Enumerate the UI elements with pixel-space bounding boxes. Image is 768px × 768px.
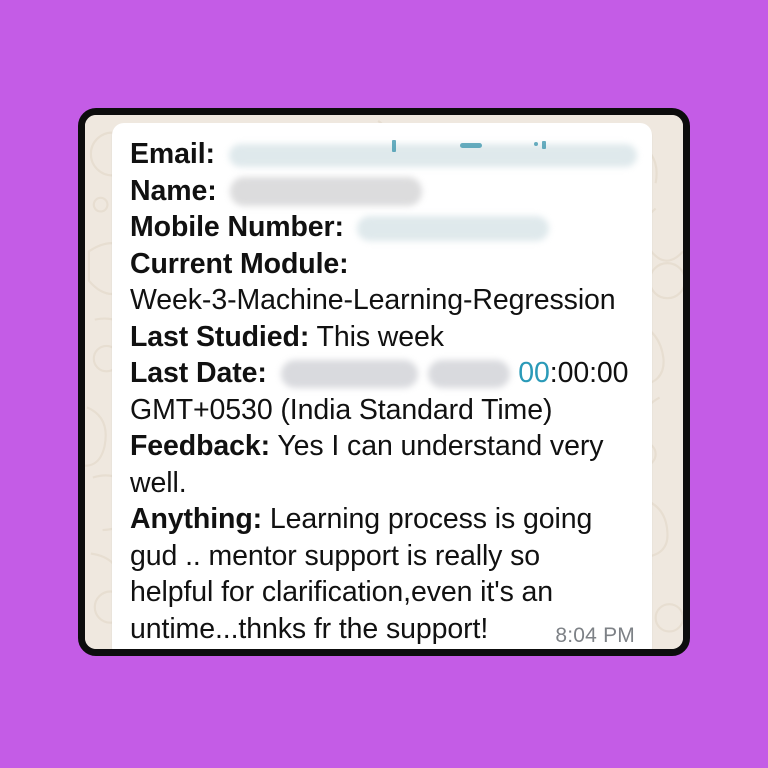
- field-label-last-date: Last Date:: [130, 357, 267, 389]
- value-anything-line-2: gud .. mentor support is really so: [130, 540, 540, 572]
- redaction-last-date-part2: [428, 360, 510, 388]
- redaction-last-date-part1: [281, 360, 418, 388]
- value-anything-line-4: untime...thnks fr the support!: [130, 613, 488, 645]
- value-anything-line-3: helpful for clarification,even it's an: [130, 576, 553, 608]
- field-anything-cont-2: helpful for clarification,even it's an: [130, 574, 644, 611]
- field-feedback: Feedback: Yes I can understand very: [130, 428, 644, 465]
- redaction-mobile-value: [357, 216, 549, 241]
- field-name: Name:: [130, 173, 644, 210]
- field-current-module-label: Current Module:: [130, 246, 644, 283]
- screenshot-canvas: Email: Name: Mobile Number: Current: [0, 0, 768, 768]
- redaction-name-value: [230, 177, 422, 206]
- message-body: Email: Name: Mobile Number: Current: [130, 136, 644, 647]
- redaction-email-value: [229, 144, 637, 167]
- redaction-speck: [460, 143, 482, 148]
- redaction-speck: [542, 141, 546, 149]
- field-feedback-cont: well.: [130, 465, 644, 502]
- message-timestamp: 8:04 PM: [555, 624, 635, 648]
- value-time-rest: :00:00: [550, 357, 629, 389]
- field-label-feedback: Feedback:: [130, 430, 270, 462]
- field-label-last-studied: Last Studied:: [130, 321, 309, 353]
- redaction-speck: [392, 140, 396, 152]
- value-timezone: GMT+0530 (India Standard Time): [130, 394, 552, 426]
- value-last-studied: This week: [317, 321, 444, 353]
- field-last-date: Last Date: 00:00:00: [130, 355, 644, 392]
- value-feedback-line-2: well.: [130, 467, 187, 499]
- field-email: Email:: [130, 136, 644, 173]
- value-current-module: Week-3-Machine-Learning-Regression: [130, 284, 616, 316]
- field-anything: Anything: Learning process is going: [130, 501, 644, 538]
- message-bubble[interactable]: Email: Name: Mobile Number: Current: [112, 123, 652, 656]
- screenshot-frame: Email: Name: Mobile Number: Current: [78, 108, 690, 656]
- field-mobile-number: Mobile Number:: [130, 209, 644, 246]
- field-timezone: GMT+0530 (India Standard Time): [130, 392, 644, 429]
- field-label-name: Name:: [130, 175, 217, 207]
- value-time-hours: 00: [518, 357, 550, 389]
- field-label-current-module: Current Module:: [130, 248, 349, 280]
- redaction-speck: [534, 142, 538, 146]
- field-label-mobile-number: Mobile Number:: [130, 211, 344, 243]
- value-feedback-line-1: Yes I can understand very: [277, 430, 603, 462]
- field-label-anything: Anything:: [130, 503, 262, 535]
- field-last-studied: Last Studied: This week: [130, 319, 644, 356]
- value-anything-line-1: Learning process is going: [270, 503, 592, 535]
- field-current-module-value: Week-3-Machine-Learning-Regression: [130, 282, 644, 319]
- field-label-email: Email:: [130, 138, 215, 170]
- field-anything-cont-1: gud .. mentor support is really so: [130, 538, 644, 575]
